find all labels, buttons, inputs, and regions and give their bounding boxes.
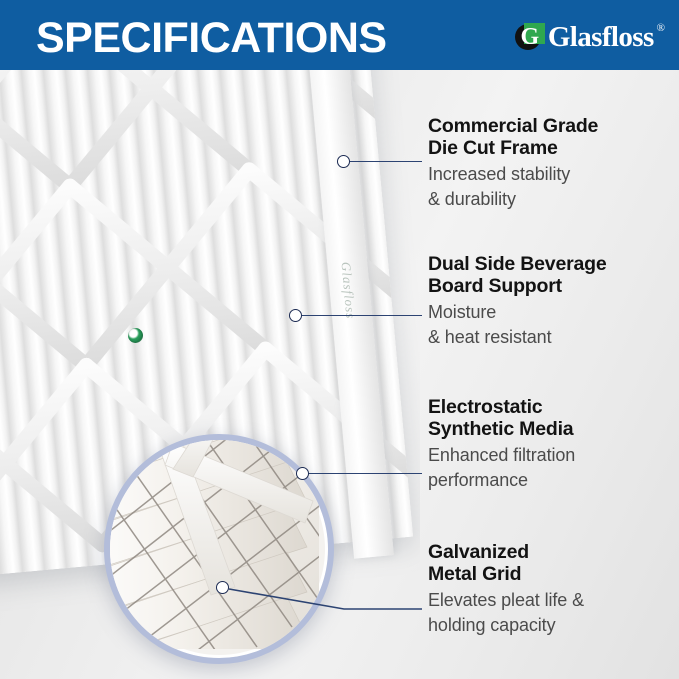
spec-title-line-1: Galvanized — [428, 541, 529, 563]
trademark-symbol: ® — [657, 22, 665, 34]
logo-letter-g: G — [519, 25, 541, 49]
callout-line-dual-side-beverage-board-support — [302, 315, 422, 316]
callout-line-commercial-grade-die-cut-frame — [350, 161, 422, 162]
page-title: SPECIFICATIONS — [36, 14, 387, 63]
spec-title-line-2: Board Support — [428, 275, 562, 297]
callout-line-electrostatic-synthetic-media — [309, 473, 422, 474]
brand-logo: G Glasfloss ® — [515, 20, 665, 54]
spec-subtext: Moisture & heat resistant — [428, 300, 676, 350]
spec-sub-line-2: performance — [428, 468, 676, 493]
spec-title: Galvanized Metal Grid — [428, 541, 676, 585]
spec-title: Commercial Grade Die Cut Frame — [428, 115, 676, 159]
spec-sub-line-2: & durability — [428, 187, 676, 212]
specifications-infographic: SPECIFICATIONS G Glasfloss ® — [0, 0, 679, 679]
callout-dot-electrostatic-synthetic-media[interactable] — [296, 467, 309, 480]
spec-title-line-1: Commercial Grade — [428, 115, 598, 137]
spec-title-line-1: Dual Side Beverage — [428, 253, 606, 275]
header-bar: SPECIFICATIONS G Glasfloss ® — [0, 0, 679, 70]
spec-title-line-2: Metal Grid — [428, 563, 521, 585]
spec-sub-line-2: & heat resistant — [428, 325, 676, 350]
green-center-grommet-icon — [128, 328, 143, 343]
callout-dot-commercial-grade-die-cut-frame[interactable] — [337, 155, 350, 168]
callout-dot-dual-side-beverage-board-support[interactable] — [289, 309, 302, 322]
spec-sub-line-2: holding capacity — [428, 613, 676, 638]
brand-name: Glasfloss — [548, 21, 654, 54]
spec-subtext: Enhanced filtration performance — [428, 443, 676, 493]
spec-sub-line-1: Enhanced filtration — [428, 443, 676, 468]
spec-block-electrostatic-synthetic-media: Electrostatic Synthetic Media Enhanced f… — [428, 396, 676, 493]
callout-dot-galvanized-metal-grid[interactable] — [216, 581, 229, 594]
spec-block-galvanized-metal-grid: Galvanized Metal Grid Elevates pleat lif… — [428, 541, 676, 638]
spec-title: Electrostatic Synthetic Media — [428, 396, 676, 440]
magnified-pleat-and-wire-detail — [107, 437, 319, 649]
spec-title-line-2: Die Cut Frame — [428, 137, 558, 159]
spec-sub-line-1: Increased stability — [428, 162, 676, 187]
spec-title-line-2: Synthetic Media — [428, 418, 573, 440]
spec-title: Dual Side Beverage Board Support — [428, 253, 676, 297]
spec-sub-line-1: Moisture — [428, 300, 676, 325]
spec-title-line-1: Electrostatic — [428, 396, 542, 418]
spec-subtext: Elevates pleat life & holding capacity — [428, 588, 676, 638]
spec-subtext: Increased stability & durability — [428, 162, 676, 212]
glasfloss-g-mark-icon: G — [515, 23, 545, 51]
spec-block-commercial-grade-die-cut-frame: Commercial Grade Die Cut Frame Increased… — [428, 115, 676, 212]
spec-block-dual-side-beverage-board-support: Dual Side Beverage Board Support Moistur… — [428, 253, 676, 350]
spec-sub-line-1: Elevates pleat life & — [428, 588, 676, 613]
